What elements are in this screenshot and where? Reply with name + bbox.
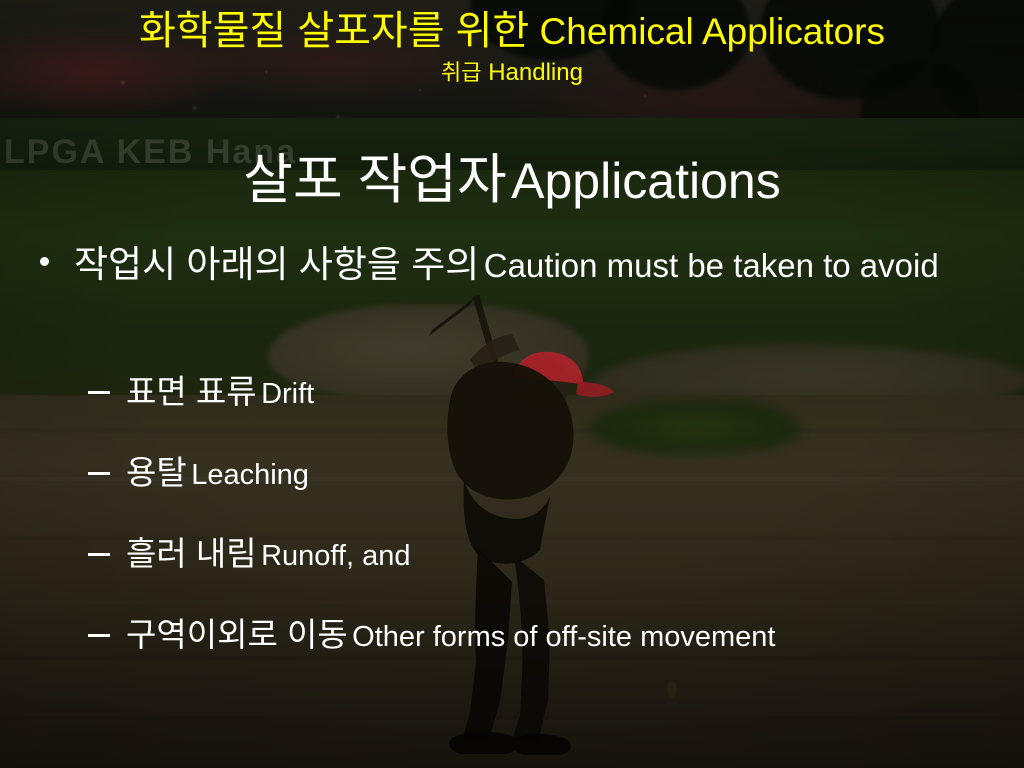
dash-bullet-icon	[88, 472, 110, 475]
slide-subtitle: 취급 Handling	[0, 57, 1024, 89]
section-heading-korean: 살포 작업자	[243, 150, 506, 210]
bullet-item: 작업시 아래의 사항을 주의 Caution must be taken to …	[28, 243, 1003, 295]
bullet-item-korean: 작업시 아래의 사항을 주의	[74, 244, 479, 285]
slide-content: 화학물질 살포자를 위한 Chemical Applicators 취급 Han…	[0, 0, 1024, 768]
sub-bullet-item: 표면 표류 Drift	[88, 372, 988, 453]
slide-title: 화학물질 살포자를 위한 Chemical Applicators	[0, 8, 1024, 55]
slide-title-korean: 화학물질 살포자를 위한	[139, 9, 529, 53]
sub-bullet-korean: 구역이외로 이동	[126, 616, 348, 653]
sub-bullet-english: Other forms of off-site movement	[352, 621, 775, 653]
bullet-item-english: Caution must be taken to avoid	[484, 247, 939, 284]
sub-bullet-item: 구역이외로 이동 Other forms of off-site movemen…	[88, 615, 988, 696]
slide-canvas: LPGA KEB Hana	[0, 0, 1024, 768]
sub-bullet-item: 용탈 Leaching	[88, 453, 988, 534]
slide-title-block: 화학물질 살포자를 위한 Chemical Applicators 취급 Han…	[0, 8, 1024, 89]
dash-bullet-icon	[88, 391, 110, 394]
sub-bullet-english: Leaching	[191, 459, 309, 491]
sub-bullet-list: 표면 표류 Drift 용탈 Leaching 흘러 내림 Runoff, an…	[88, 372, 988, 696]
sub-bullet-korean: 흘러 내림	[126, 535, 257, 572]
sub-bullet-korean: 용탈	[126, 454, 187, 491]
dash-bullet-icon	[88, 553, 110, 556]
slide-title-english: Chemical Applicators	[540, 11, 885, 52]
sub-bullet-english: Drift	[261, 378, 314, 410]
slide-subtitle-english: Handling	[488, 59, 583, 86]
sub-bullet-korean: 표면 표류	[126, 373, 257, 410]
bullet-list: 작업시 아래의 사항을 주의 Caution must be taken to …	[28, 243, 1003, 295]
dash-bullet-icon	[88, 634, 110, 637]
section-heading-english: Applications	[511, 153, 781, 209]
bullet-dot-icon	[40, 257, 49, 266]
slide-subtitle-korean: 취급	[441, 60, 481, 85]
section-heading: 살포 작업자 Applications	[0, 148, 1024, 226]
sub-bullet-english: Runoff, and	[261, 540, 410, 572]
sub-bullet-item: 흘러 내림 Runoff, and	[88, 534, 988, 615]
